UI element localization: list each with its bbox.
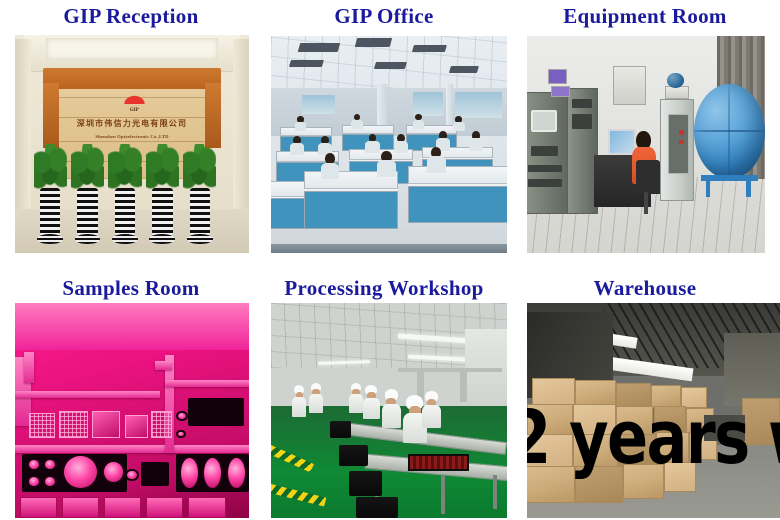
gip-logo-text: GIP [120,108,148,113]
reception-planter [74,144,102,240]
storage-bin [356,497,398,519]
warranty-overlay-text: 2 years warran [527,401,780,475]
caption-reception: GIP Reception [0,4,262,28]
shelf-bracket [24,352,33,382]
round-light-sample [62,454,99,491]
round-light-sample [102,460,125,484]
rack-post [460,372,467,402]
round-light-sample [27,458,41,471]
caption-equipment-room: Equipment Room [515,4,775,28]
office-window [302,95,335,115]
ceiling-light [374,62,407,69]
bench-leg [493,475,497,509]
display-shelf [15,391,160,397]
workshop-worker [292,385,306,417]
office-cubicle [408,166,507,222]
reception-sign-english: Shenzhen Optoelectronic Co.,LTD [62,134,202,139]
office-window [455,92,502,118]
component-tray [408,454,469,471]
reception-photo[interactable]: GIP 深圳市伟信力光电有限公司 Shenzhen Optoelectronic… [15,35,249,253]
cabinet-drawer [20,497,57,519]
reception-right-pilaster [205,83,221,148]
sphere-cart-leg [746,179,751,196]
bench-leg [441,475,445,514]
grow-light-sample [226,456,247,490]
storage-bin [339,445,367,467]
office-worker [413,114,425,129]
cabinet-drawer [62,497,99,519]
office-worker [290,136,304,156]
office-worker [295,116,307,131]
office-worker [351,114,363,129]
office-cubicle [304,171,398,230]
reception-left-pilaster [43,83,59,148]
wall-control-box [613,66,646,105]
reception-sign-chinese: 深圳市伟信力光电有限公司 [62,118,202,129]
ceiling-light [355,38,393,47]
ceiling-light [289,60,324,67]
workshop-worker [363,385,380,419]
ceiling-light [449,66,479,73]
office-photo[interactable] [271,36,507,253]
workshop-worker [422,391,441,428]
caption-samples-room: Samples Room [0,276,262,300]
reception-planter [186,144,214,240]
processing-workshop-photo[interactable] [271,303,507,518]
chair-post [644,192,649,214]
factory-photo-gallery: GIP Reception GIP 深圳市伟信力光电有限公司 Shenzhen … [0,0,780,520]
storage-bin [349,471,382,497]
reception-ceiling [24,35,239,72]
shelf-bracket [155,361,171,370]
equipment-room-photo[interactable] [527,36,765,253]
caption-office: GIP Office [259,4,509,28]
workshop-worker [309,383,323,413]
caption-processing-workshop: Processing Workshop [259,276,509,300]
control-cabinet [660,99,693,201]
office-window [413,92,444,116]
office-worker [377,151,396,177]
display-shelf [165,380,249,386]
caption-warehouse: Warehouse [515,276,775,300]
wall-sign [548,69,567,84]
display-shelf [15,445,249,454]
led-panel-sample [92,411,120,439]
test-chamber [527,92,570,214]
led-panel-sample [29,413,55,439]
warehouse-photo[interactable]: 2 years warran [527,303,780,518]
round-light-sample [43,458,57,471]
sample-box-dark [141,462,169,486]
cabinet-drawer [188,497,225,519]
office-photo-border [271,244,507,253]
workshop-worker [349,383,363,413]
office-worker [453,116,465,131]
reception-ceiling-recess [46,38,218,60]
led-panel-sample [125,415,148,439]
grow-light-sample [179,456,200,490]
overhead-rack [398,368,502,372]
round-light-sample [27,475,41,488]
wall-sign [551,86,570,97]
gip-logo-icon: GIP [120,92,148,112]
cabinet-drawer [104,497,141,519]
samples-room-photo[interactable] [15,303,249,518]
led-panel-sample [151,411,172,439]
workshop-worker [382,389,401,428]
samples-room-ceiling [15,303,249,350]
ceiling-light [412,45,447,52]
small-sphere [667,73,684,88]
reception-valance [43,68,221,90]
sphere-cart-leg [706,179,711,196]
reception-planter [36,144,64,240]
cabinet-drawer [146,497,183,519]
office-worker [427,147,446,173]
integrating-sphere [694,84,765,179]
office-worker [469,131,483,151]
storage-bin [330,421,351,438]
sample-box-dark [188,398,244,426]
reception-planter [148,144,176,240]
led-panel-sample [59,411,87,439]
reception-planter [111,144,139,240]
round-light-sample [43,475,57,488]
office-chair [636,160,660,195]
office-worker [321,153,340,179]
ceiling-light [298,43,341,52]
